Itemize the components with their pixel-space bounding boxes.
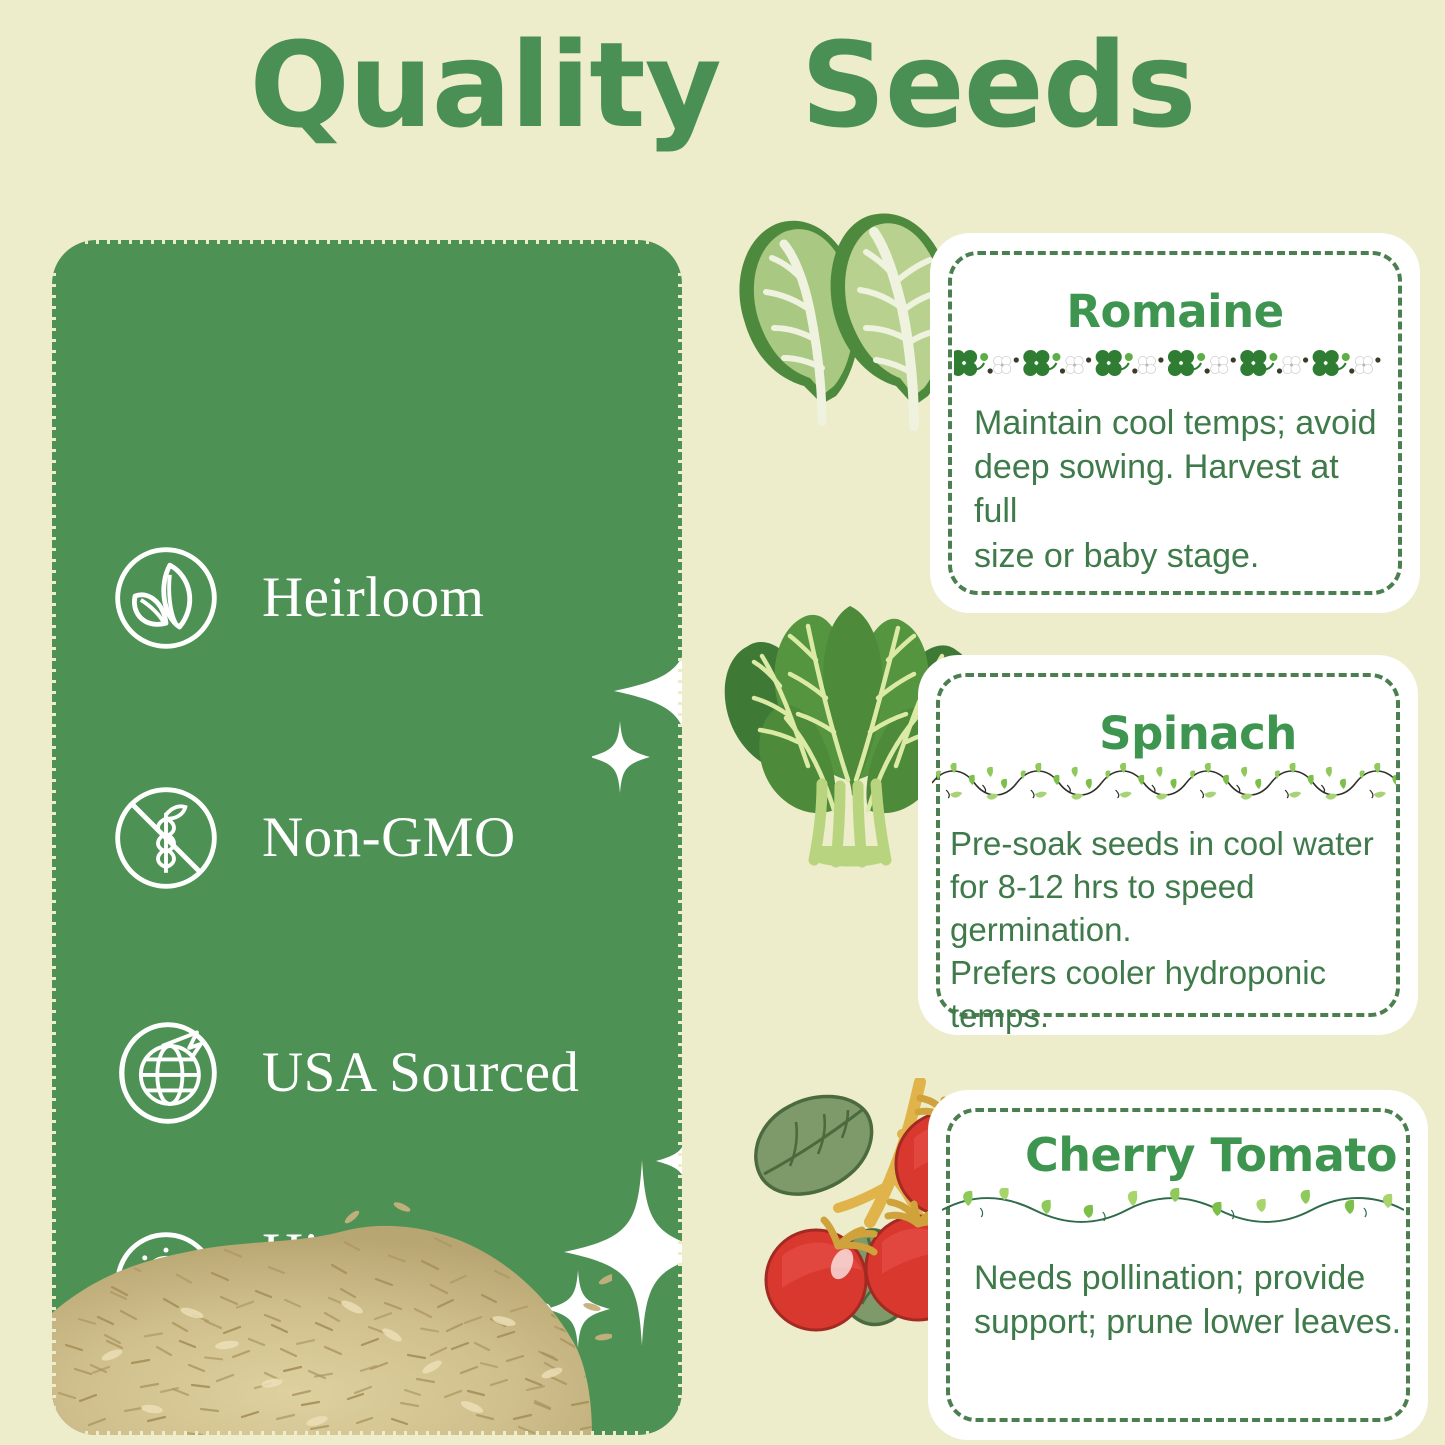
feature-label: Heirloom (262, 569, 484, 627)
feature-item-heirloom: Heirloom (108, 540, 662, 656)
feature-label: USA Sourced (262, 1044, 579, 1102)
feature-label: High Germination (262, 1225, 556, 1341)
card-title: Romaine (930, 285, 1420, 338)
sprout-germination-icon (108, 1225, 224, 1341)
feature-item-high-germination: High Germination (108, 1225, 662, 1341)
card-body-text: Needs pollination; provide support; prun… (974, 1256, 1402, 1344)
feature-list: Heirloom Non-GMO (52, 240, 682, 1435)
card-title: Spinach (978, 707, 1418, 760)
no-gmo-wheat-icon (108, 780, 224, 896)
seeds-circle-icon (108, 540, 224, 656)
info-card-cherry-tomato: Cherry Tomato Needs po (928, 1090, 1428, 1440)
features-panel: Heirloom Non-GMO (52, 240, 682, 1435)
card-body-text: Maintain cool temps; avoid deep sowing. … (974, 401, 1390, 578)
globe-airplane-icon (108, 1015, 224, 1131)
info-card-spinach: Spinach Pre-soak seeds in cool water (918, 655, 1418, 1035)
page-title: Quality Seeds (0, 18, 1445, 154)
ivy-vine-divider-icon (932, 763, 1396, 803)
info-card-romaine: Romaine (930, 233, 1420, 613)
card-body-text: Pre-soak seeds in cool water for 8-12 hr… (950, 823, 1404, 1037)
feature-item-usa-sourced: USA Sourced (108, 1015, 662, 1131)
leafy-wave-divider-icon (942, 1188, 1404, 1228)
feature-item-non-gmo: Non-GMO (108, 780, 662, 896)
feature-label: Non-GMO (262, 809, 516, 867)
clover-flower-divider-icon (954, 345, 1396, 385)
card-title: Cherry Tomato (994, 1128, 1428, 1182)
